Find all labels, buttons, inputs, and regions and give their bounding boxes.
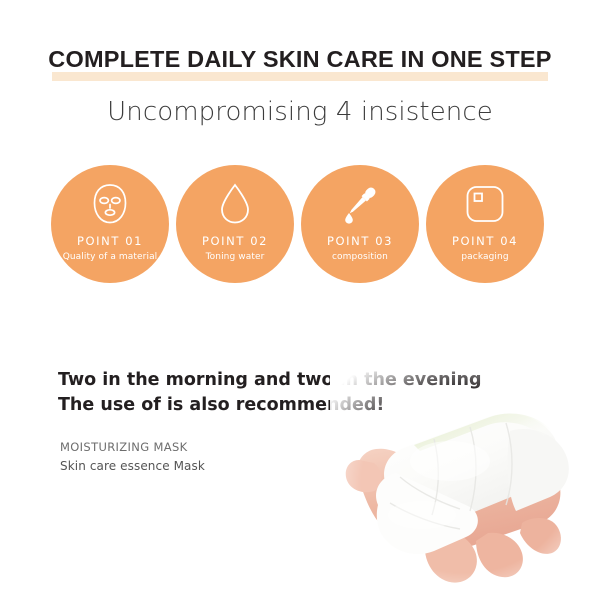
point-label: POINT 03 <box>327 234 393 248</box>
point-item-03: POINT 03 composition <box>301 165 419 283</box>
product-subtitle: Skin care essence Mask <box>60 457 205 476</box>
point-label: POINT 01 <box>77 234 143 248</box>
point-desc: Toning water <box>206 252 265 262</box>
face-sheet-mask-icon <box>90 180 130 228</box>
product-name: MOISTURIZING MASK <box>60 437 205 457</box>
water-droplet-icon <box>218 180 252 228</box>
point-desc: composition <box>332 252 388 262</box>
point-item-01: POINT 01 Quality of a material <box>51 165 169 283</box>
page-title: COMPLETE DAILY SKIN CARE IN ONE STEP <box>0 48 600 72</box>
product-photo <box>330 365 600 600</box>
point-desc: Quality of a material <box>63 252 158 262</box>
product-info: MOISTURIZING MASK Skin care essence Mask <box>60 437 205 476</box>
page-subtitle: Uncompromising 4 insistence <box>0 96 600 129</box>
point-desc: packaging <box>461 252 508 262</box>
header: COMPLETE DAILY SKIN CARE IN ONE STEP Unc… <box>0 0 600 140</box>
point-item-02: POINT 02 Toning water <box>176 165 294 283</box>
title-underline-bar <box>52 72 548 81</box>
point-list: POINT 01 Quality of a material POINT 02 … <box>0 165 600 285</box>
page-title-wrap: COMPLETE DAILY SKIN CARE IN ONE STEP <box>0 48 600 72</box>
point-item-04: POINT 04 packaging <box>426 165 544 283</box>
dropper-pipette-icon <box>338 180 382 228</box>
point-label: POINT 04 <box>452 234 518 248</box>
point-label: POINT 02 <box>202 234 268 248</box>
pouch-package-icon <box>464 180 506 228</box>
